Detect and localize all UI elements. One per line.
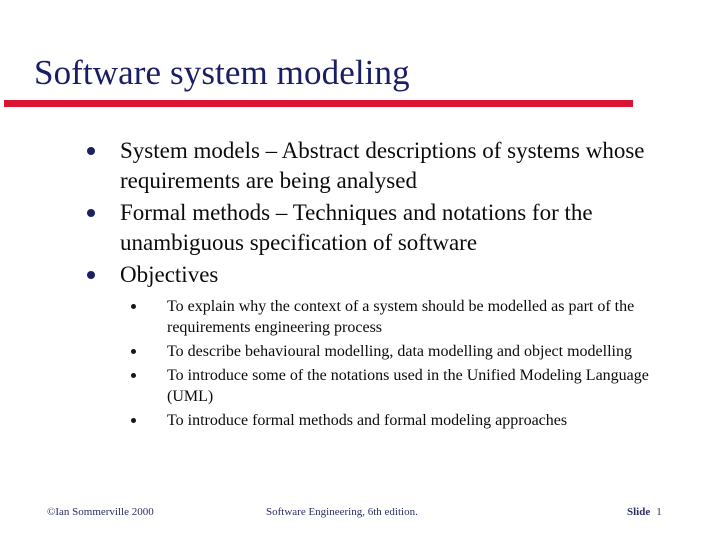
footer-book-title: Software Engineering, 6th edition. [266, 506, 418, 518]
footer-slide-number: Slide1 [627, 506, 662, 518]
page-title: Software system modeling [0, 52, 720, 94]
sub-bullet-dot-icon [131, 418, 136, 423]
sub-bullet-dot-icon [131, 373, 136, 378]
bullet-text: Formal methods – Techniques and notation… [120, 200, 593, 255]
title-underline-rule [4, 100, 633, 107]
sub-bullet-item: To describe behavioural modelling, data … [0, 341, 720, 362]
bullet-item: Formal methods – Techniques and notation… [0, 198, 720, 258]
sub-bullet-text: To introduce some of the notations used … [167, 367, 649, 405]
bullet-text: System models – Abstract descriptions of… [120, 138, 645, 193]
sub-bullet-text: To describe behavioural modelling, data … [167, 343, 632, 360]
sub-bullet-text: To explain why the context of a system s… [167, 298, 634, 336]
footer-slide-label: Slide [627, 506, 650, 518]
slide-footer: ©Ian Sommerville 2000 Software Engineeri… [0, 494, 720, 540]
sub-bullet-item: To introduce formal methods and formal m… [0, 410, 720, 431]
title-block: Software system modeling [0, 52, 720, 94]
sub-bullet-item: To introduce some of the notations used … [0, 365, 720, 407]
bullet-dot-icon [87, 209, 95, 217]
sub-bullet-dot-icon [131, 349, 136, 354]
sub-bullet-dot-icon [131, 304, 136, 309]
sub-bullet-text: To introduce formal methods and formal m… [167, 412, 567, 429]
bullet-dot-icon [87, 147, 95, 155]
slide-canvas: Software system modeling System models –… [0, 0, 720, 540]
bullet-item: System models – Abstract descriptions of… [0, 136, 720, 196]
bullet-item: Objectives [0, 260, 720, 290]
bullet-text: Objectives [120, 262, 218, 287]
bullet-dot-icon [87, 271, 95, 279]
slide-body: System models – Abstract descriptions of… [0, 136, 720, 434]
sub-bullet-item: To explain why the context of a system s… [0, 296, 720, 338]
footer-slide-value: 1 [656, 506, 662, 518]
footer-copyright: ©Ian Sommerville 2000 [47, 506, 154, 518]
sub-bullet-group: To explain why the context of a system s… [0, 296, 720, 431]
